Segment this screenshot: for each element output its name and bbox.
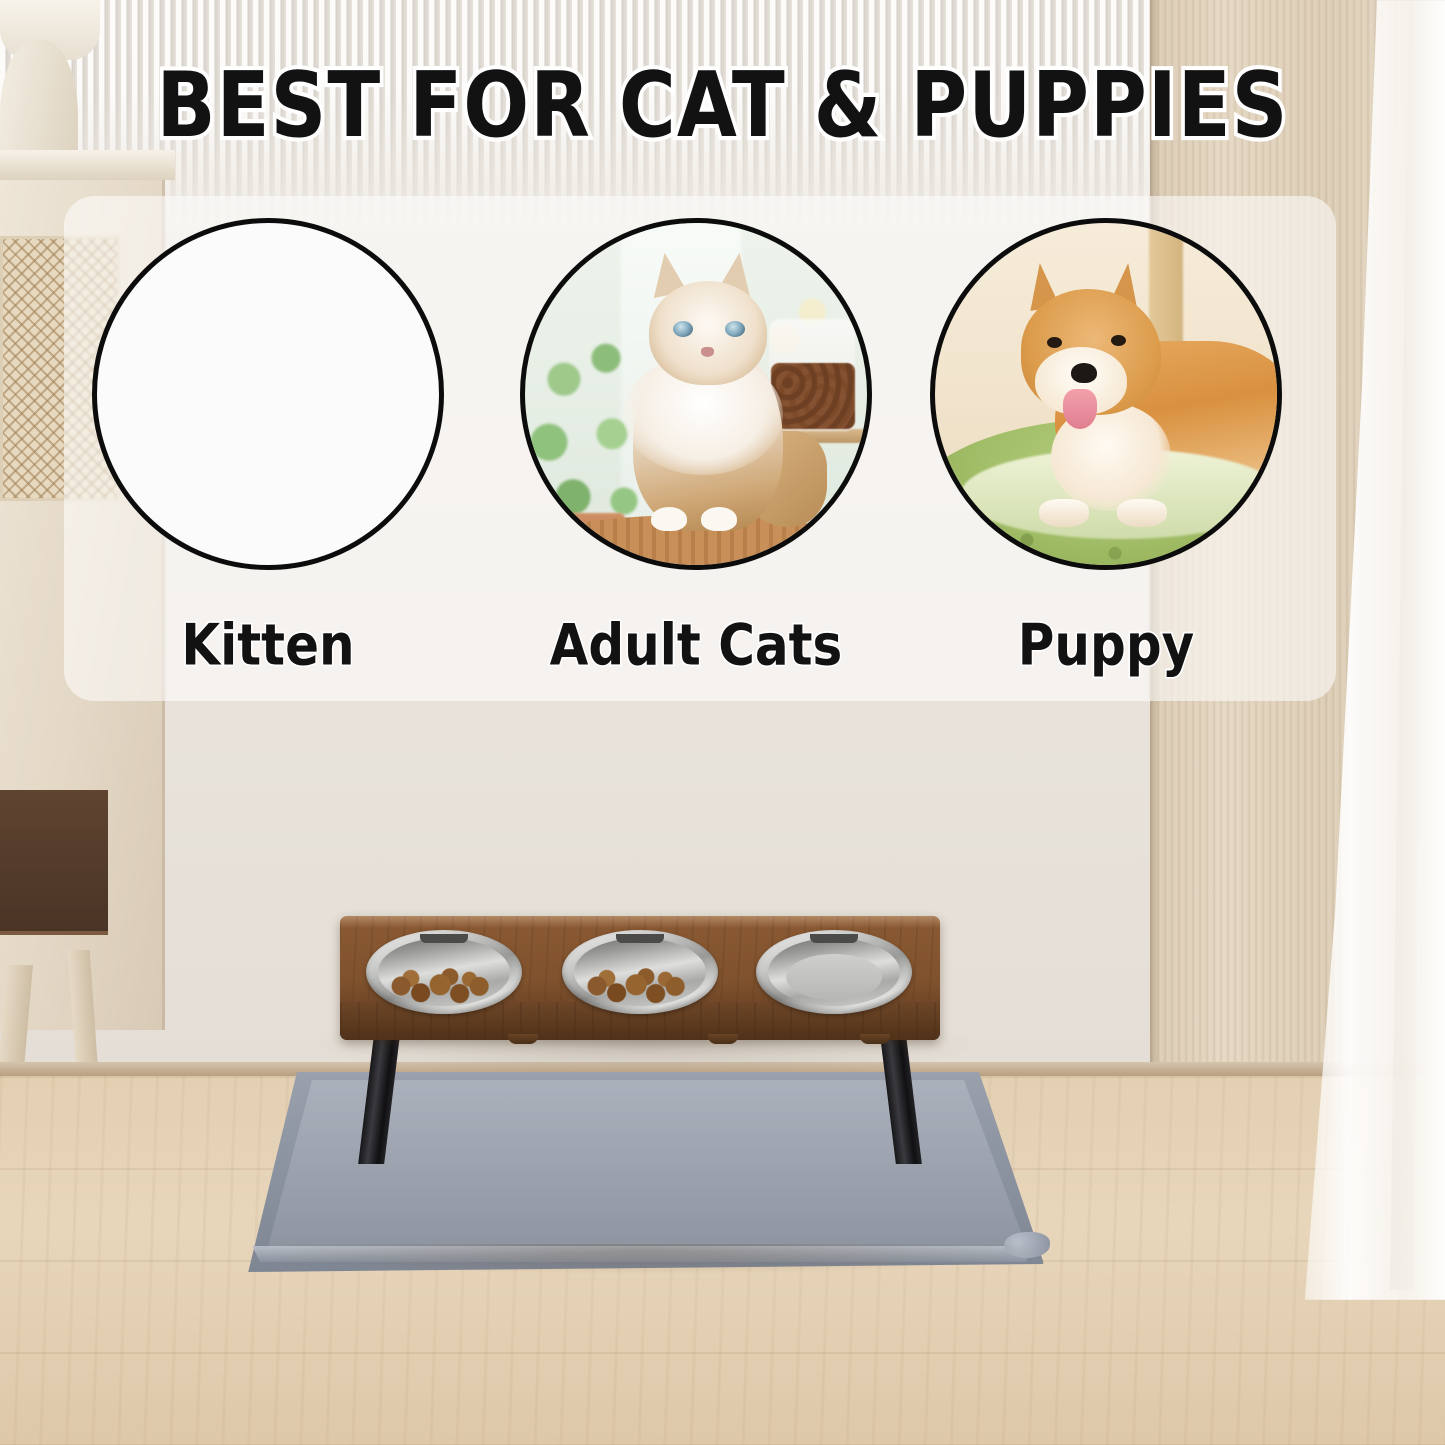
coffee-beans bbox=[771, 363, 855, 429]
kibble-food bbox=[580, 964, 702, 1004]
pet-category-adult-cats[interactable]: Adult Cats bbox=[520, 218, 872, 570]
two-kittens-photo bbox=[92, 218, 444, 570]
pet-category-puppy[interactable]: Puppy bbox=[930, 218, 1282, 570]
water-bowl-right bbox=[756, 930, 912, 1014]
caption-adult-cats: Adult Cats bbox=[520, 612, 872, 678]
cabinet-dark-shelf bbox=[0, 790, 108, 935]
caption-puppy: Puppy bbox=[930, 612, 1282, 678]
shiba-inu-puppy-photo bbox=[930, 218, 1282, 570]
dog-tongue bbox=[1063, 389, 1097, 429]
product-marketing-image: BEST FOR CAT & PUPPIES bbox=[0, 0, 1445, 1445]
board-underside-knob-right bbox=[860, 1034, 890, 1044]
dog-paw-left bbox=[1039, 499, 1089, 527]
caption-kitten: Kitten bbox=[92, 612, 444, 678]
bowl-notch bbox=[810, 934, 858, 943]
kibble-food bbox=[384, 964, 506, 1004]
board-highlight bbox=[340, 916, 940, 928]
cat-eye-left bbox=[673, 321, 693, 337]
dog-paw-right bbox=[1117, 499, 1167, 527]
fluffy-adult-cat-photo bbox=[520, 218, 872, 570]
board-underside-knob-center bbox=[708, 1034, 738, 1044]
dog-eye-right bbox=[1111, 335, 1126, 346]
headline-text: BEST FOR CAT & PUPPIES bbox=[0, 52, 1445, 157]
pet-category-kitten[interactable]: Kitten bbox=[92, 218, 444, 570]
mat-floor-shadow bbox=[244, 1244, 1044, 1274]
dog-eye-left bbox=[1047, 337, 1062, 348]
bowl-base bbox=[786, 954, 882, 1000]
pet-category-row: Kitten bbox=[64, 218, 1336, 578]
cat-paw-right bbox=[701, 507, 737, 531]
board-underside-knob-left bbox=[508, 1034, 538, 1044]
food-bowl-left bbox=[366, 930, 522, 1014]
cat-nose bbox=[701, 347, 714, 357]
bowl-notch bbox=[420, 934, 468, 943]
dog-nose bbox=[1071, 363, 1097, 383]
cat-head bbox=[649, 281, 767, 385]
food-bowl-center bbox=[562, 930, 718, 1014]
cat-eye-right bbox=[725, 321, 745, 337]
feeder-leg-right bbox=[880, 1036, 922, 1164]
feeder-leg-left bbox=[358, 1036, 400, 1164]
cat-paw-left bbox=[651, 507, 687, 531]
bowl-notch bbox=[616, 934, 664, 943]
elevated-pet-feeder bbox=[340, 916, 940, 1176]
